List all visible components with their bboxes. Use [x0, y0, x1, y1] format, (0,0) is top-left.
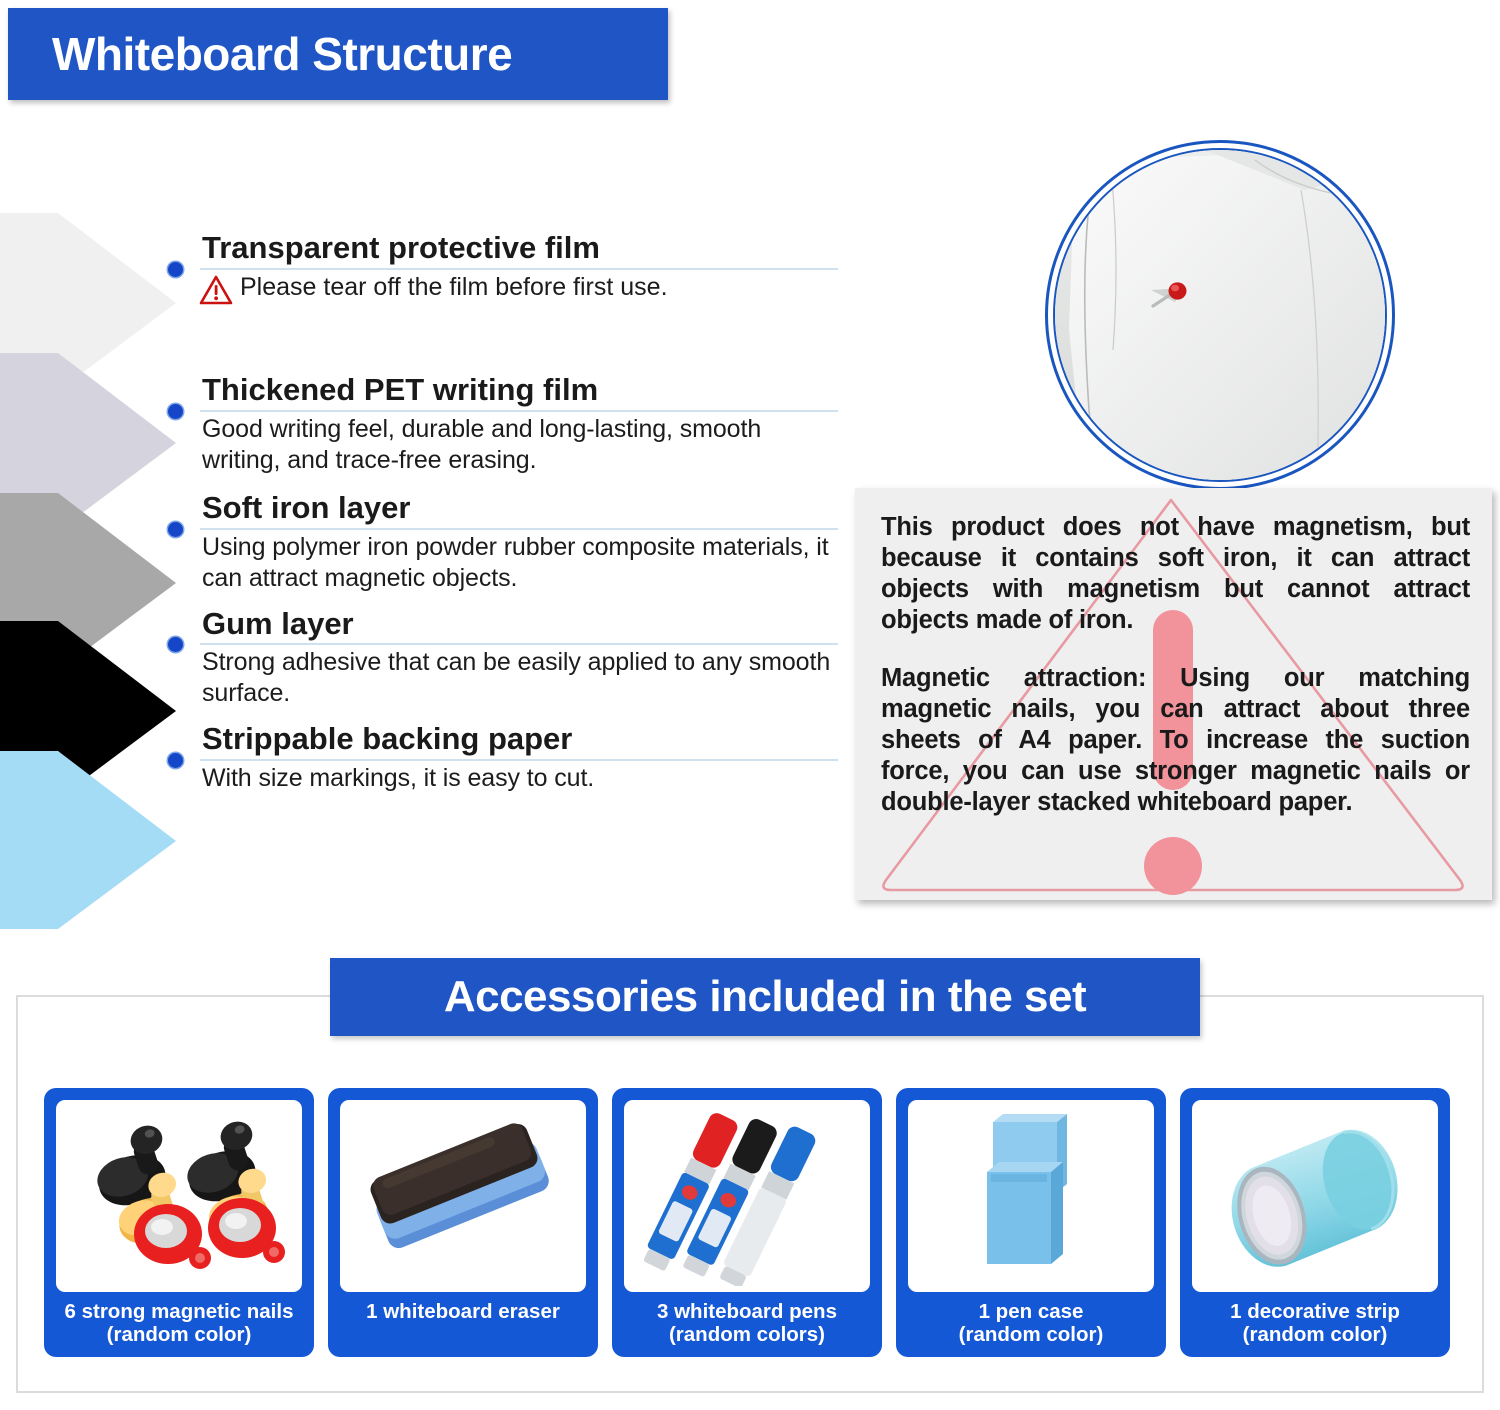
accessories-banner: Accessories included in the set: [330, 958, 1200, 1036]
layer-item-strippable-backing-paper: Strippable backing paper With size marki…: [168, 723, 838, 794]
accessory-card-whiteboard-pens[interactable]: 3 whiteboard pens (random colors): [612, 1088, 882, 1357]
whiteboard-pens-icon: [637, 1106, 857, 1286]
layer-title: Soft iron layer: [168, 492, 838, 525]
accessory-card-whiteboard-eraser[interactable]: 1 whiteboard eraser: [328, 1088, 598, 1357]
accessories-title: Accessories included in the set: [444, 972, 1086, 1022]
magnetic-pin-photo-inner: [1053, 148, 1387, 482]
layer-item-transparent-protective-film: Transparent protective film Please tear …: [168, 232, 838, 310]
layer-title: Gum layer: [168, 608, 838, 641]
layer-note: Using polymer iron powder rubber composi…: [168, 532, 838, 594]
accessory-image-wrapper: [1192, 1100, 1438, 1292]
wedge-strippable-backing-paper: [0, 745, 180, 935]
whiteboard-eraser-icon: [353, 1111, 573, 1281]
layer-description-list: Transparent protective film Please tear …: [168, 232, 838, 794]
accessory-caption: 1 pen case (random color): [959, 1301, 1104, 1347]
layer-connector-dot: [168, 262, 183, 277]
layer-note-row: Please tear off the film before first us…: [168, 272, 838, 310]
accessory-card-decorative-strip[interactable]: 1 decorative strip (random color): [1180, 1088, 1450, 1357]
page-title: Whiteboard Structure: [8, 27, 512, 81]
accessory-image-wrapper: [624, 1100, 870, 1292]
page-header-banner: Whiteboard Structure: [8, 8, 668, 100]
accessory-card-magnetic-nails[interactable]: 6 strong magnetic nails (random color): [44, 1088, 314, 1357]
layer-connector-dot: [168, 522, 183, 537]
layer-divider: [200, 759, 838, 761]
layer-note: Good writing feel, durable and long-last…: [168, 414, 838, 476]
accessory-caption: 1 decorative strip (random color): [1230, 1301, 1400, 1347]
accessory-caption: 1 whiteboard eraser: [366, 1301, 560, 1324]
layer-divider: [200, 643, 838, 645]
layer-title: Thickened PET writing film: [168, 374, 838, 407]
magnetism-info-text: This product does not have magnetism, bu…: [855, 488, 1492, 818]
layer-note: With size markings, it is easy to cut.: [168, 763, 838, 794]
layer-divider: [200, 410, 838, 412]
magnetism-paragraph-1: This product does not have magnetism, bu…: [881, 512, 1470, 636]
layer-item-thickened-pet-writing-film: Thickened PET writing film Good writing …: [168, 374, 838, 476]
magnetism-paragraph-2: Magnetic attraction: Using our matching …: [881, 663, 1470, 818]
accessory-caption: 3 whiteboard pens (random colors): [657, 1301, 837, 1347]
layer-note: Please tear off the film before first us…: [240, 272, 668, 303]
magnetic-pin-photo: [1045, 140, 1395, 490]
layer-item-gum-layer: Gum layer Strong adhesive that can be ea…: [168, 608, 838, 710]
decorative-strip-icon: [1210, 1111, 1420, 1281]
accessory-image-wrapper: [908, 1100, 1154, 1292]
pen-case-icon: [931, 1106, 1131, 1286]
magnetic-nails-icon: [64, 1106, 294, 1286]
accessory-image-wrapper: [340, 1100, 586, 1292]
whiteboard-surface-illustration: [1055, 150, 1387, 482]
accessory-image-wrapper: [56, 1100, 302, 1292]
layer-connector-dot: [168, 404, 183, 419]
accessories-card-list: 6 strong magnetic nails (random color) 1…: [44, 1088, 1444, 1357]
layer-divider: [200, 528, 838, 530]
layer-divider: [200, 268, 838, 270]
accessory-card-pen-case[interactable]: 1 pen case (random color): [896, 1088, 1166, 1357]
layer-title: Strippable backing paper: [168, 723, 838, 756]
magnetism-info-box: This product does not have magnetism, bu…: [855, 488, 1492, 900]
layer-note: Strong adhesive that can be easily appli…: [168, 647, 838, 709]
layer-title: Transparent protective film: [168, 232, 838, 265]
accessory-caption: 6 strong magnetic nails (random color): [65, 1301, 294, 1347]
layer-item-soft-iron-layer: Soft iron layer Using polymer iron powde…: [168, 492, 838, 594]
warning-triangle-icon: [199, 275, 233, 310]
